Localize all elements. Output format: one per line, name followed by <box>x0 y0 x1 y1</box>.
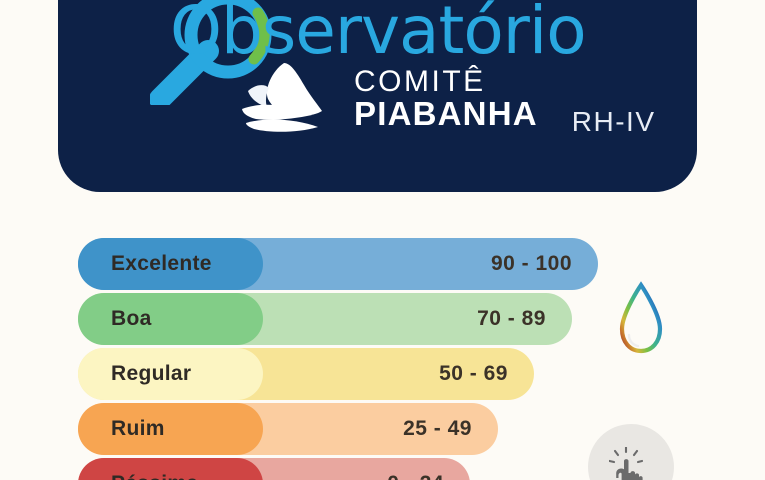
scale-category-label: Regular <box>111 362 191 386</box>
scale-range-value: 25 - 49 <box>403 417 472 441</box>
scale-chip: Excelente <box>78 238 263 290</box>
scale-category-label: Boa <box>111 307 152 331</box>
logo-region-label: RH-IV <box>572 107 656 137</box>
water-drop-icon <box>612 281 670 357</box>
comite-piabanha-logo: COMITÊ PIABANHA RH-IV <box>238 53 656 143</box>
scale-chip: Péssima <box>78 458 263 480</box>
logo-line-piabanha: PIABANHA <box>354 97 538 131</box>
header-panel: Observatório COMITÊ PIABANHA RH-IV <box>58 0 697 192</box>
scale-chip: Ruim <box>78 403 263 455</box>
scale-range-value: 70 - 89 <box>477 307 546 331</box>
scale-chip: Boa <box>78 293 263 345</box>
scale-range-value: 90 - 100 <box>491 252 572 276</box>
logo-line-comite: COMITÊ <box>354 66 538 97</box>
scale-category-label: Ruim <box>111 417 165 441</box>
scale-category-label: Excelente <box>111 252 212 276</box>
scale-range-value: 50 - 69 <box>439 362 508 386</box>
scale-category-label: Péssima <box>111 472 198 480</box>
quality-index-legend-screen: Observatório COMITÊ PIABANHA RH-IV 90 - … <box>0 0 765 480</box>
scale-range-value: 0 - 24 <box>387 472 444 480</box>
scale-chip: Regular <box>78 348 263 400</box>
mountain-river-logo-icon <box>238 57 348 139</box>
pointing-hand-cursor-icon <box>609 447 653 480</box>
